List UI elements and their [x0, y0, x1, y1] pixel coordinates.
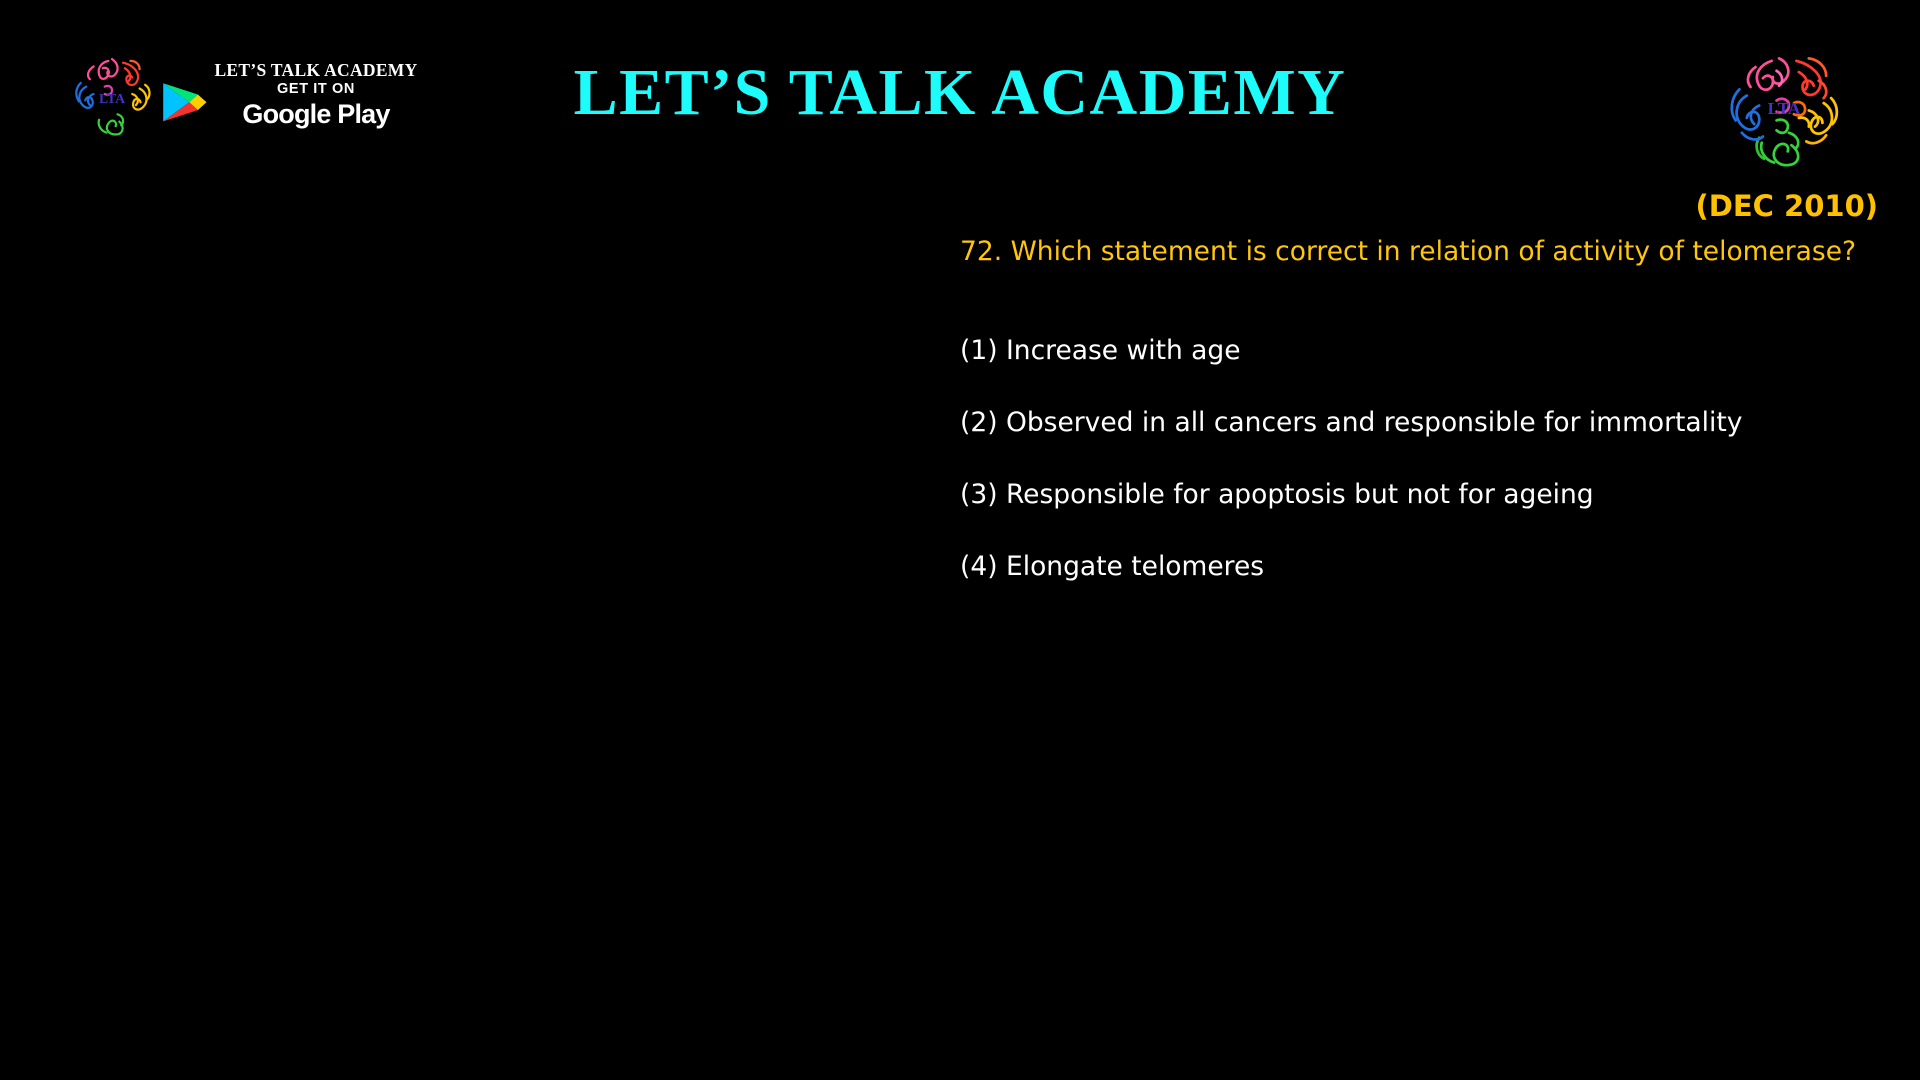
option-row-2[interactable]: (2) Observed in all cancers and responsi…: [960, 406, 1880, 478]
question-block: 72. Which statement is correct in relati…: [960, 232, 1860, 272]
option-row-1[interactable]: (1) Increase with age: [960, 334, 1880, 406]
page-title: LET’S TALK ACADEMY: [0, 55, 1920, 131]
question-text: 72. Which statement is correct in relati…: [960, 232, 1860, 272]
header-bar: LTA LET’S TALK ACADEMY GET IT ON Google …: [0, 0, 1920, 180]
exam-date-badge: (DEC 2010): [0, 188, 1878, 224]
option-row-3[interactable]: (3) Responsible for apoptosis but not fo…: [960, 478, 1880, 550]
option-row-4[interactable]: (4) Elongate telomeres: [960, 550, 1880, 622]
svg-text:LTA: LTA: [1768, 99, 1801, 118]
options-list: (1) Increase with age (2) Observed in al…: [960, 334, 1880, 622]
protein-ribbon-logo-right: LTA: [1722, 46, 1846, 170]
